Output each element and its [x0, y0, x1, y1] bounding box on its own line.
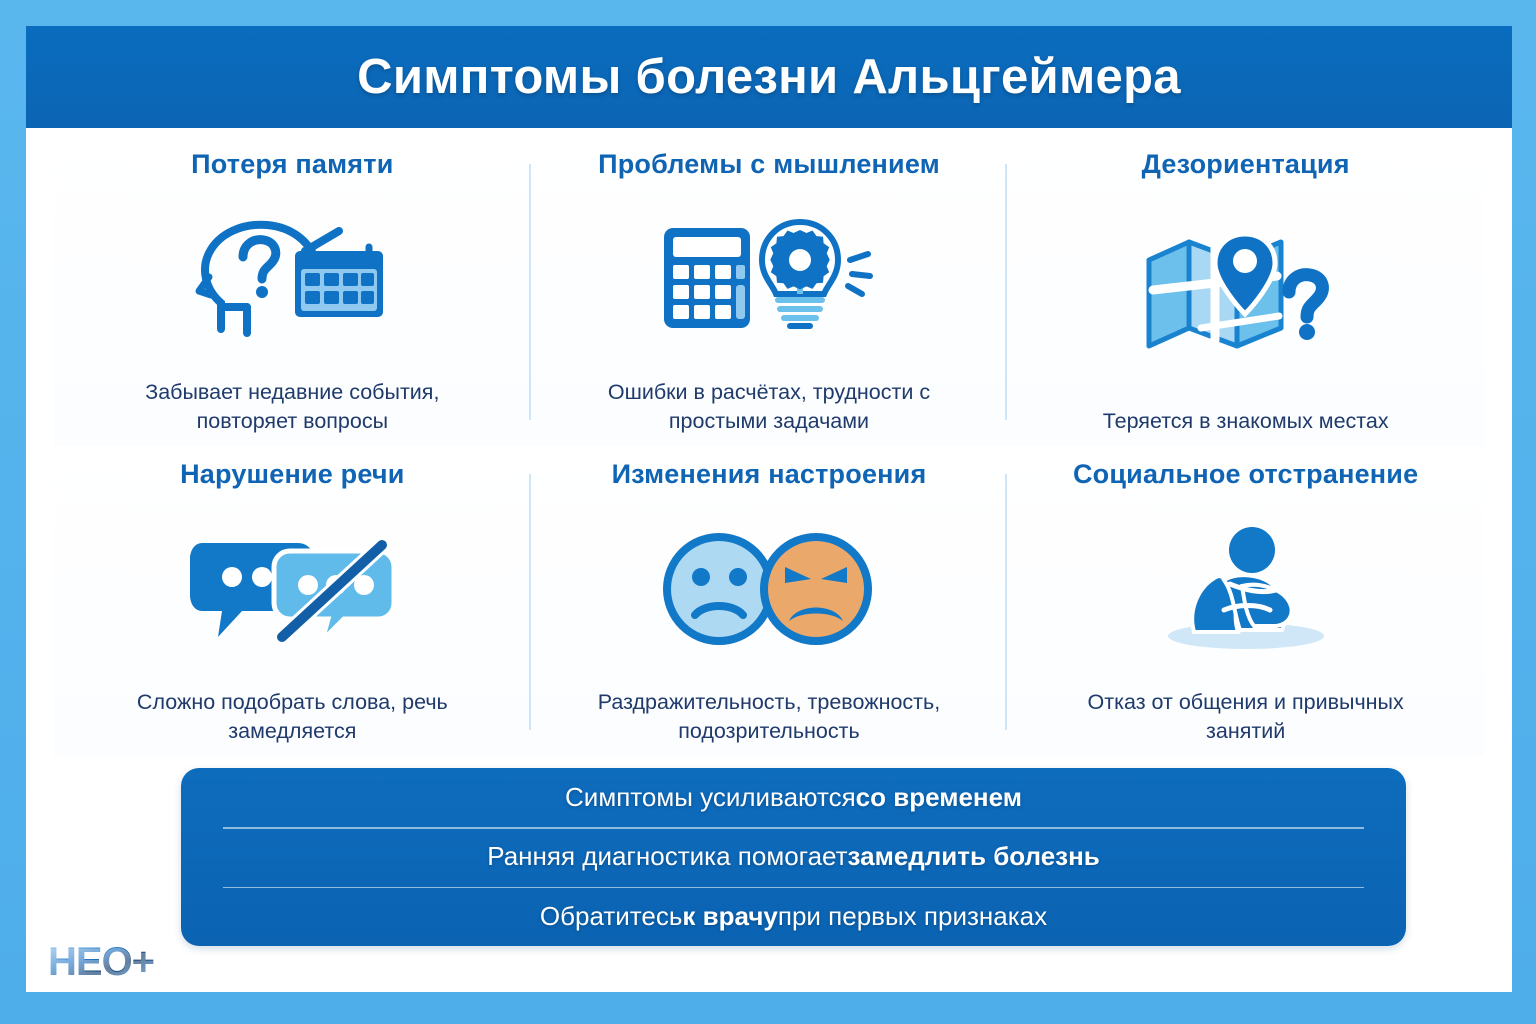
page-title: Симптомы болезни Альцгеймера [357, 49, 1181, 105]
map-pin-question-icon [1023, 180, 1468, 407]
symptom-card-memory-loss[interactable]: Потеря памяти [54, 136, 531, 446]
symptom-title: Проблемы с мышлением [598, 150, 940, 180]
symptom-grid: Потеря памяти [54, 136, 1484, 756]
key-point-regular-before: Симптомы усиливаются [565, 782, 856, 813]
symptom-title: Изменения настроения [612, 460, 927, 490]
symptom-title: Дезориентация [1142, 150, 1350, 180]
symptom-title: Социальное отстранение [1073, 460, 1418, 490]
symptom-description: Забывает недавние события, повторяет воп… [92, 378, 492, 440]
header-banner: Симптомы болезни Альцгеймера [26, 26, 1512, 128]
key-point-bold: со временем [856, 782, 1022, 813]
poster-card: Симптомы болезни Альцгеймера Потеря памя… [26, 26, 1512, 992]
key-point-line: Ранняя диагностика помогает замедлить бо… [181, 827, 1406, 886]
symptom-description: Теряется в знакомых местах [1103, 407, 1389, 440]
symptom-title: Потеря памяти [191, 150, 393, 180]
symptom-description: Раздражительность, тревожность, подозрит… [569, 688, 969, 750]
key-point-line: Обратитесь к врачу при первых признаках [181, 887, 1406, 946]
calculator-lightbulb-gear-icon [547, 180, 992, 378]
person-sitting-alone-icon [1023, 490, 1468, 688]
key-point-regular-after: при первых признаках [778, 901, 1047, 932]
symptom-card-social-withdrawal[interactable]: Социальное отстранение Отказ от общения … [1007, 446, 1484, 756]
symptom-description: Сложно подобрать слова, речь замедляется [92, 688, 492, 750]
symptom-description: Отказ от общения и привычных занятий [1046, 688, 1446, 750]
infographic-poster: Симптомы болезни Альцгеймера Потеря памя… [0, 0, 1536, 1024]
sad-angry-faces-icon [547, 490, 992, 688]
symptom-card-disorientation[interactable]: Дезориентация Теряется [1007, 136, 1484, 446]
brand-logo: НЕО+ [48, 942, 154, 982]
head-question-calendar-icon [70, 180, 515, 378]
symptom-card-mood-changes[interactable]: Изменения настроения Раздражительность, … [531, 446, 1008, 756]
key-point-line: Симптомы усиливаются со временем [181, 768, 1406, 827]
symptom-card-speech-impairment[interactable]: Нарушение речи [54, 446, 531, 756]
key-point-regular-before: Ранняя диагностика помогает [487, 841, 847, 872]
symptom-card-thinking-problems[interactable]: Проблемы с мышлением [531, 136, 1008, 446]
key-points-panel: Симптомы усиливаются со временем Ранняя … [181, 768, 1406, 946]
symptom-description: Ошибки в расчётах, трудности с простыми … [569, 378, 969, 440]
speech-bubbles-slash-icon [70, 490, 515, 688]
key-point-regular-before: Обратитесь [540, 901, 683, 932]
symptom-title: Нарушение речи [180, 460, 405, 490]
key-point-bold: к врачу [682, 901, 777, 932]
key-point-bold: замедлить болезнь [848, 841, 1100, 872]
